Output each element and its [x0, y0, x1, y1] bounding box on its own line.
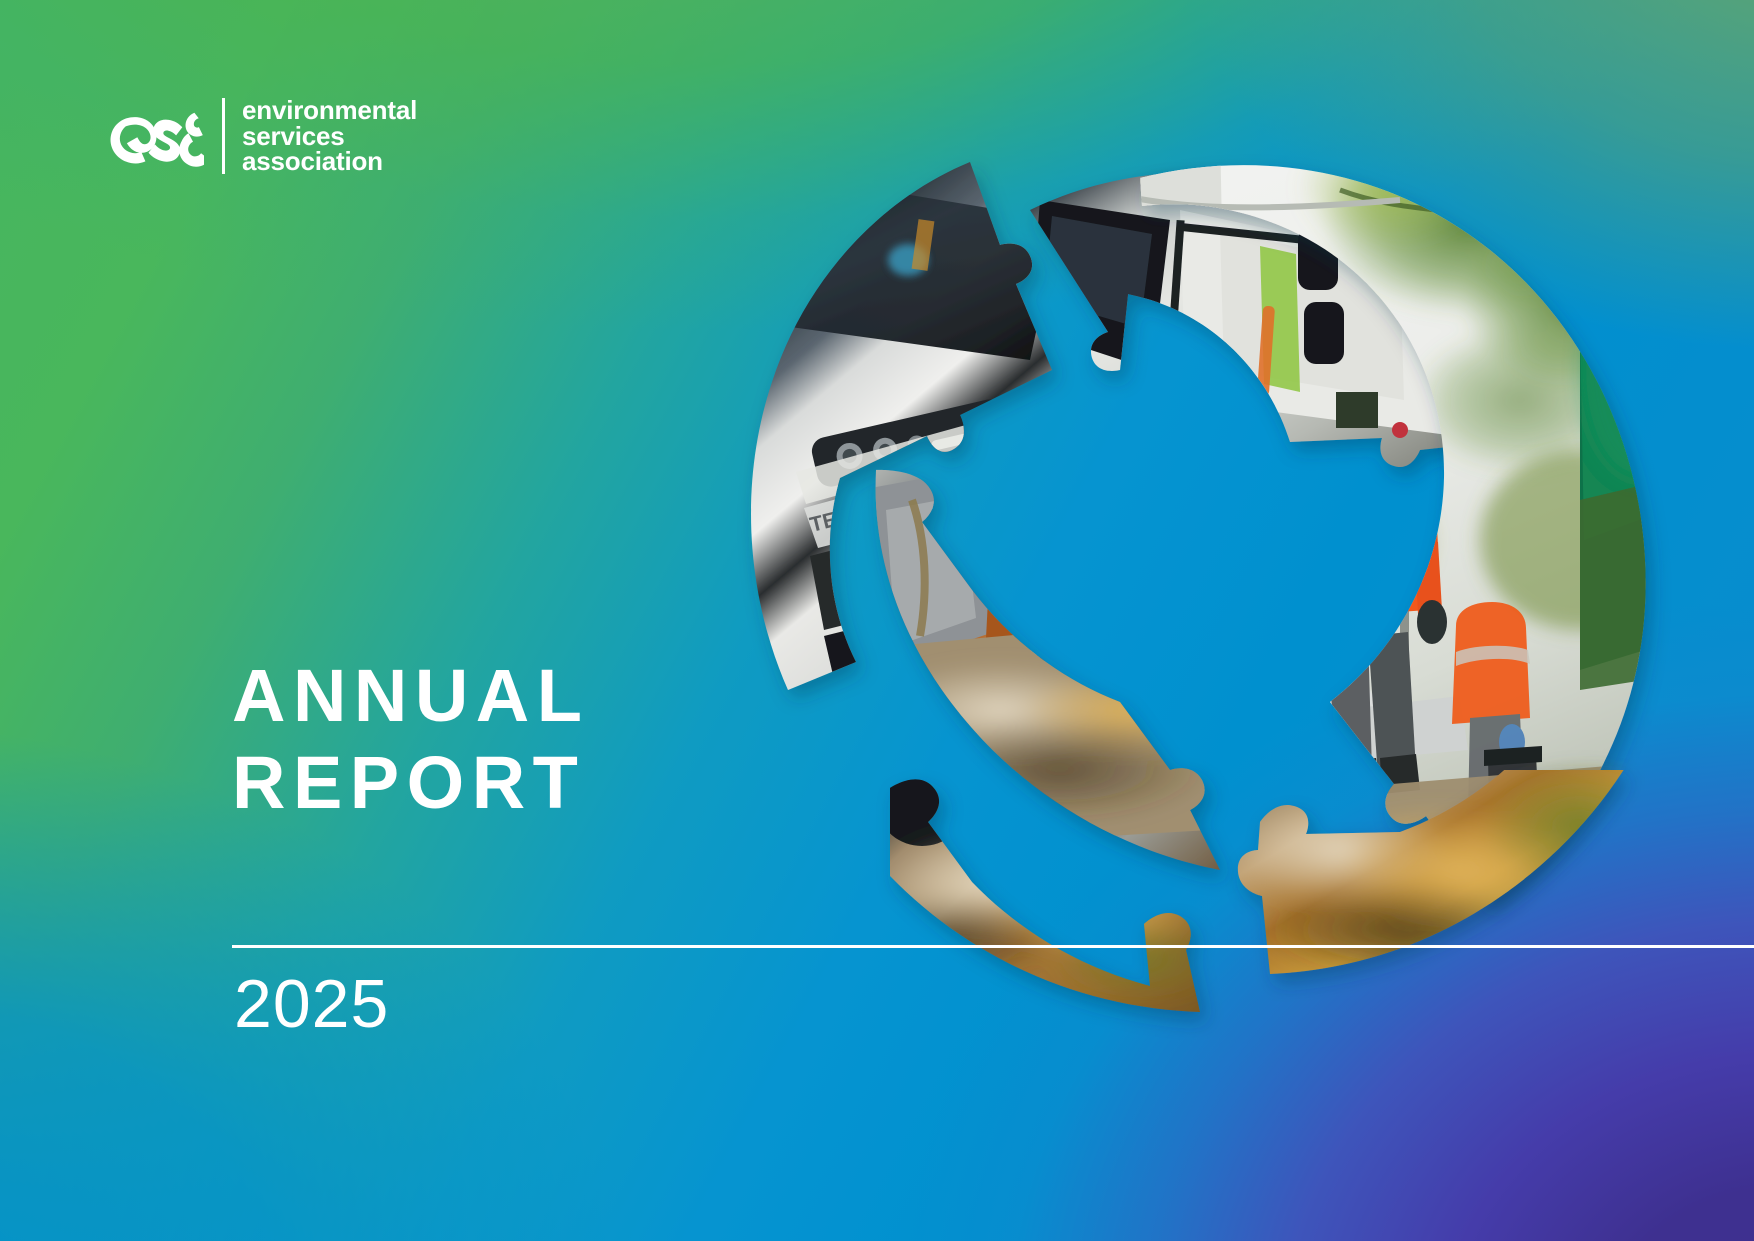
esa-logo: environmental services association	[108, 96, 417, 175]
title-line-report: REPORT	[232, 739, 589, 826]
esa-lettermark-icon	[108, 96, 204, 174]
report-year: 2025	[234, 965, 389, 1043]
esa-wordmark: environmental services association	[242, 96, 417, 175]
wordmark-line-3: association	[242, 149, 417, 175]
report-cover-page: environmental services association	[0, 0, 1754, 1241]
wordmark-line-1: environmental	[242, 98, 417, 124]
title-divider-rule	[232, 945, 1754, 948]
report-title: ANNUAL REPORT	[232, 652, 589, 826]
title-line-annual: ANNUAL	[232, 652, 589, 739]
logo-divider-icon	[222, 98, 225, 174]
jigsaw-circle-collage: TE+	[700, 70, 1754, 1030]
